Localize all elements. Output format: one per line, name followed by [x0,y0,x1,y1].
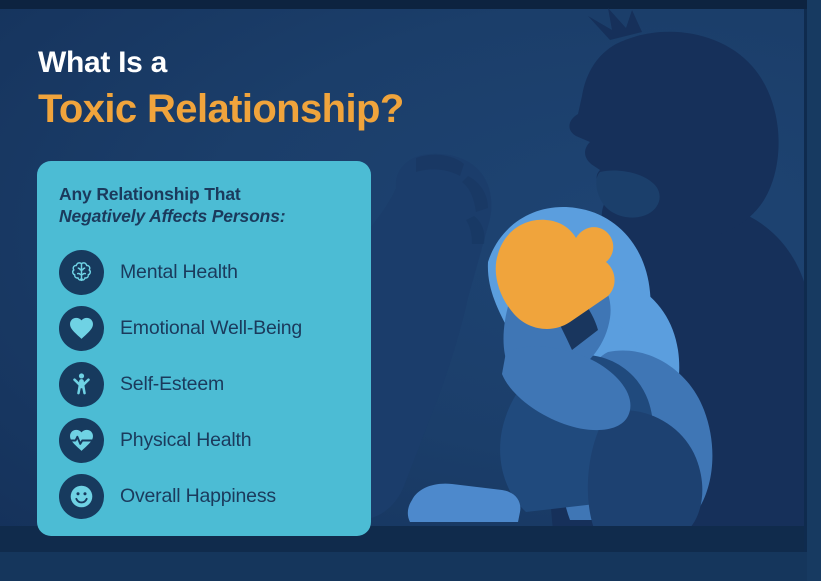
page-title: What Is a Toxic Relationship? [38,48,598,129]
card-heading-line-1: Any Relationship That [59,184,241,204]
title-line-2: Toxic Relationship? [38,89,598,129]
raised-fist-silhouette [360,154,491,519]
brain-icon [59,250,104,295]
bottom-border-band [0,552,821,581]
list-item-label: Overall Happiness [120,485,276,508]
heart-pulse-icon [59,418,104,463]
list-item-label: Self-Esteem [120,373,224,396]
list-item-label: Mental Health [120,261,238,284]
card-heading-line-2: Negatively Affects Persons: [59,205,371,227]
smiley-face-icon [59,474,104,519]
affected-areas-list: Mental Health Emotional Well-Being [59,244,371,524]
list-item-label: Physical Health [120,429,251,452]
card-heading: Any Relationship That Negatively Affects… [59,183,371,227]
heart-icon [59,306,104,351]
list-item: Emotional Well-Being [59,300,371,356]
right-edge-strip [807,0,821,581]
infographic-slide: What Is a Toxic Relationship? Any Relati… [0,0,821,581]
list-item: Mental Health [59,244,371,300]
list-item-label: Emotional Well-Being [120,317,302,340]
person-arms-raised-icon [59,362,104,407]
definition-card: Any Relationship That Negatively Affects… [37,161,371,536]
list-item: Self-Esteem [59,356,371,412]
list-item: Physical Health [59,412,371,468]
list-item: Overall Happiness [59,468,371,524]
title-line-1: What Is a [38,48,598,78]
